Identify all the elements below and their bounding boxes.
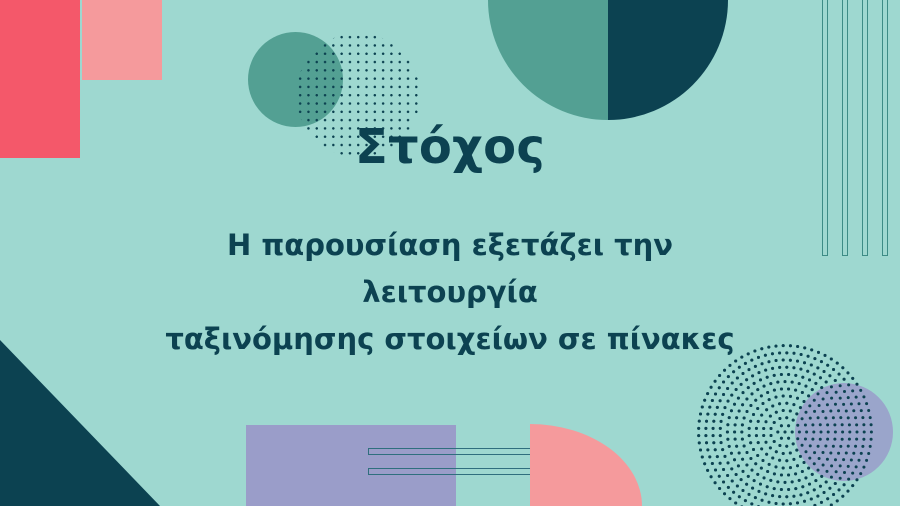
horizontal-line-2 [368, 468, 534, 475]
page-title: Στόχος [0, 121, 900, 174]
horizontal-line-1 [368, 448, 534, 455]
slide-subtitle-line-1: Η παρουσίαση εξετάζει την λειτουργία [227, 228, 673, 309]
decorative-salmon-half-circle [530, 424, 642, 506]
decorative-salmon-rectangle [82, 0, 162, 80]
decorative-two-tone-half-circle [488, 0, 728, 120]
half-circle-right-navy [608, 0, 728, 120]
slide-subtitle-line-2: ταξινόμησης στοιχείων σε πίνακες [165, 322, 734, 356]
decorative-navy-triangle [0, 340, 160, 506]
presentation-slide: Στόχος Η παρουσίαση εξετάζει την λειτουρ… [0, 0, 900, 506]
decorative-horizontal-lines [368, 448, 534, 478]
half-circle-left-teal [488, 0, 608, 120]
slide-subtitle: Η παρουσίαση εξετάζει την λειτουργία ταξ… [150, 222, 750, 363]
decorative-purple-circle [795, 383, 893, 481]
